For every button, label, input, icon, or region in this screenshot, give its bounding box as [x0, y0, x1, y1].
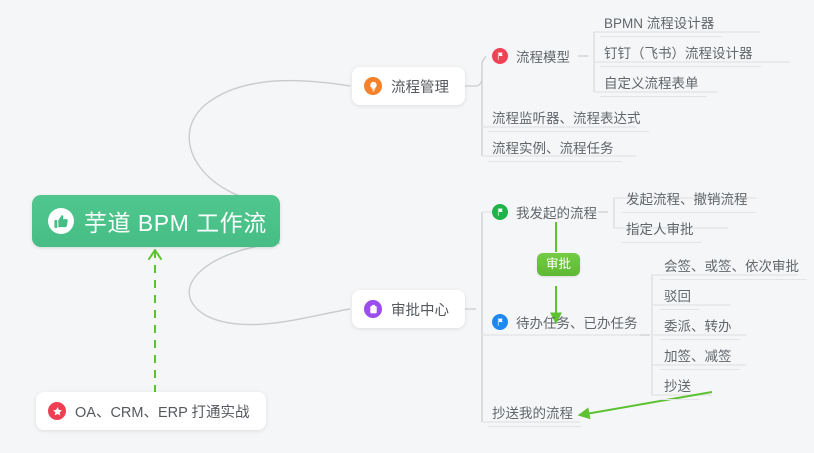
node-label: 指定人审批: [626, 218, 694, 238]
node-label: 发起流程、撤销流程: [626, 188, 748, 208]
node-label: 抄送: [664, 375, 691, 395]
connector-pm-spine-cap-top: [476, 78, 482, 86]
node-label: 待办任务、已办任务: [516, 312, 638, 332]
clipboard-icon: [364, 300, 382, 318]
flag-icon: [492, 314, 508, 330]
floating-note[interactable]: OA、CRM、ERP 打通实战: [36, 392, 266, 430]
node-process-instance[interactable]: 流程实例、流程任务: [488, 133, 622, 162]
node-my-started-process[interactable]: 我发起的流程: [490, 197, 605, 226]
node-label: 流程模型: [516, 46, 570, 66]
node-process-listener[interactable]: 流程监听器、流程表达式: [488, 103, 649, 132]
mindmap-canvas: 芋道 BPM 工作流 OA、CRM、ERP 打通实战 流程管理 流程模型: [0, 0, 814, 453]
connector-pm-to-model: [482, 56, 486, 62]
node-custom-form[interactable]: 自定义流程表单: [600, 68, 707, 97]
node-dingtalk-designer[interactable]: 钉钉（飞书）流程设计器: [600, 38, 761, 67]
connector-root-to-process-management: [189, 81, 350, 205]
node-label: 抄送我的流程: [492, 402, 573, 422]
node-label: 委派、转办: [664, 315, 732, 335]
thumbs-up-icon: [48, 208, 74, 234]
flag-icon: [492, 48, 508, 64]
connector-root-to-approval-center: [189, 243, 350, 325]
lightbulb-icon: [364, 77, 382, 95]
node-cc-my-process[interactable]: 抄送我的流程: [488, 398, 581, 427]
node-add-remove-sign[interactable]: 加签、减签: [660, 341, 740, 370]
tag-label: 审批: [546, 257, 571, 271]
branch-label: 流程管理: [391, 76, 449, 97]
root-node[interactable]: 芋道 BPM 工作流: [32, 195, 280, 247]
node-bpmn-designer[interactable]: BPMN 流程设计器: [600, 8, 722, 37]
node-label: 流程实例、流程任务: [492, 137, 614, 157]
node-start-cancel-process[interactable]: 发起流程、撤销流程: [622, 184, 756, 213]
node-reject[interactable]: 驳回: [660, 281, 699, 310]
node-label: 会签、或签、依次审批: [664, 255, 799, 275]
branch-node-approval-center[interactable]: 审批中心: [352, 290, 465, 328]
node-label: 加签、减签: [664, 345, 732, 365]
node-label: 流程监听器、流程表达式: [492, 107, 641, 127]
flag-icon: [492, 204, 508, 220]
root-label: 芋道 BPM 工作流: [84, 204, 267, 238]
node-label: 我发起的流程: [516, 202, 597, 222]
node-process-model[interactable]: 流程模型: [490, 41, 578, 70]
node-label: 驳回: [664, 285, 691, 305]
floating-note-label: OA、CRM、ERP 打通实战: [75, 401, 250, 422]
node-label: 自定义流程表单: [604, 72, 699, 92]
node-cc[interactable]: 抄送: [660, 371, 699, 400]
node-label: BPMN 流程设计器: [604, 12, 714, 32]
node-delegate-transfer[interactable]: 委派、转办: [660, 311, 740, 340]
node-assignee-approval[interactable]: 指定人审批: [622, 214, 702, 243]
node-todo-done-tasks[interactable]: 待办任务、已办任务: [490, 307, 646, 336]
star-icon: [48, 402, 66, 420]
branch-label: 审批中心: [391, 299, 449, 320]
arrow-note-to-root-head: [149, 250, 161, 259]
node-label: 钉钉（飞书）流程设计器: [604, 42, 753, 62]
node-countersign[interactable]: 会签、或签、依次审批: [660, 251, 807, 280]
branch-node-process-management[interactable]: 流程管理: [352, 67, 465, 105]
tag-approval: 审批: [537, 253, 580, 276]
